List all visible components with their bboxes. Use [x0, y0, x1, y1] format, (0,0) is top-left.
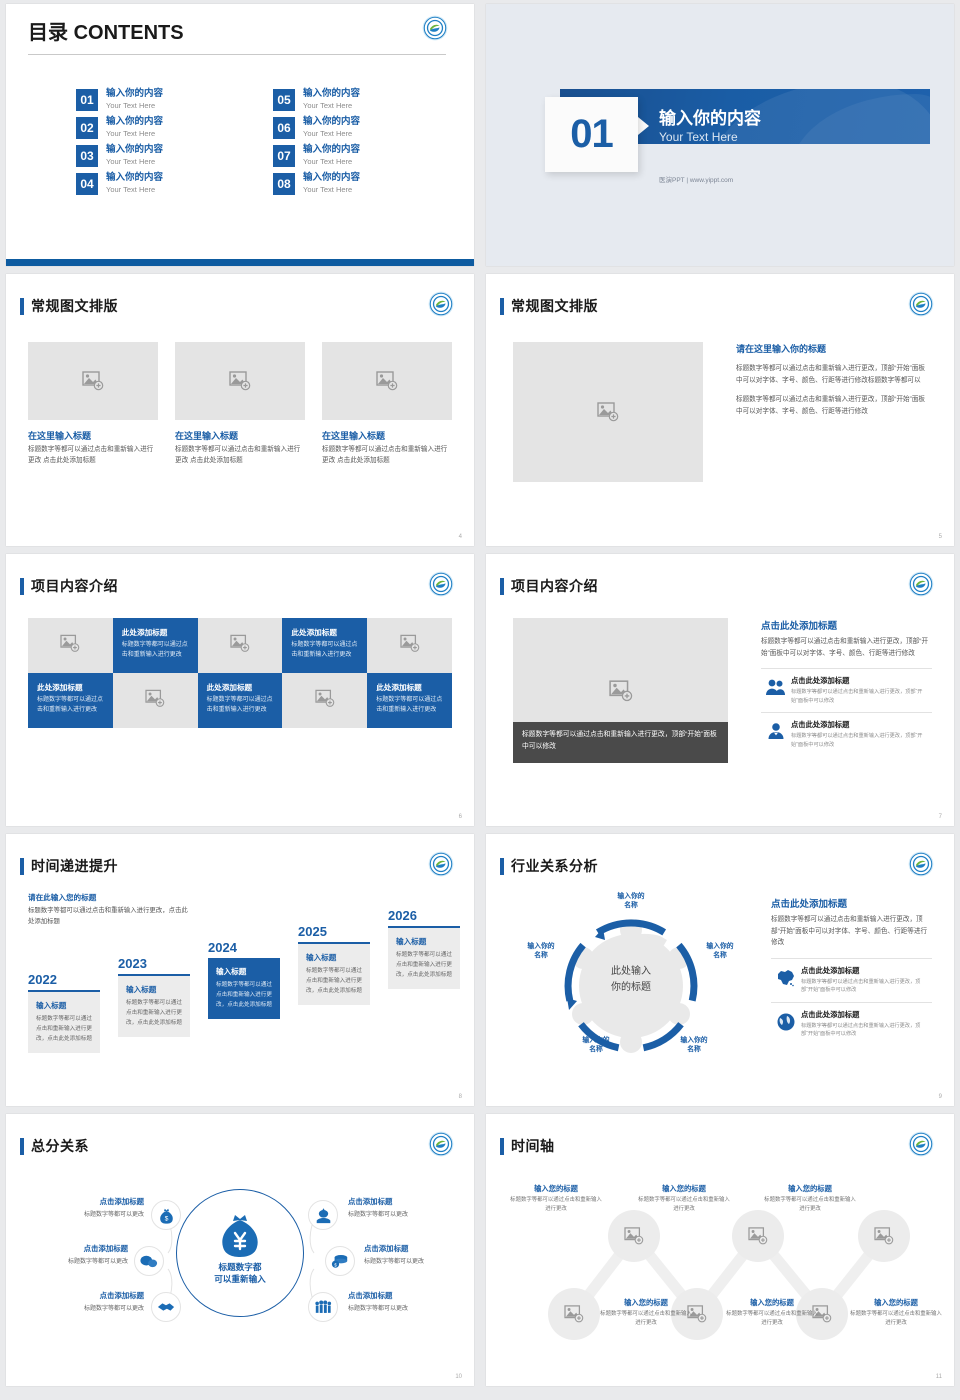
- section-number-box: 01: [545, 97, 638, 172]
- list-item[interactable]: 02 输入你的内容 Your Text Here: [76, 117, 239, 139]
- label-body: 标题数字等都可以通过点击和重新输入进行更改: [636, 1196, 732, 1213]
- page-number: 11: [936, 1374, 942, 1380]
- section-title-en: Your Text Here: [659, 130, 738, 144]
- page-number: 6: [459, 814, 462, 820]
- slide-header: 行业关系分析: [500, 856, 598, 876]
- node-label-line2: 名称: [664, 1045, 724, 1054]
- page-title-cn: 目录: [28, 22, 68, 44]
- page-title: 时间递进提升: [31, 856, 118, 876]
- step-year: 2026: [388, 908, 460, 923]
- slide-header: 时间递进提升: [20, 856, 118, 876]
- list-item[interactable]: 07 输入你的内容 Your Text Here: [273, 145, 436, 167]
- slide-layout-circular-relations[interactable]: 行业关系分析: [486, 834, 954, 1106]
- spoke-label[interactable]: 点击添加标题 标题数字等都可以更改: [364, 1243, 474, 1265]
- grid-cell-image[interactable]: [28, 618, 113, 673]
- money-bag-dollar-icon[interactable]: $: [151, 1200, 181, 1230]
- list-item[interactable]: 点击此处添加标题 标题数字等都可以通过点击和重新输入进行更改，顶部“开始”面板中…: [761, 712, 932, 756]
- brand-logo-icon: [428, 571, 454, 597]
- list-item[interactable]: 03 输入你的内容 Your Text Here: [76, 145, 239, 167]
- add-image-icon: [597, 402, 619, 422]
- add-image-icon: [230, 634, 250, 657]
- step-box: 输入标题 标题数字等都可以通过点击和重新输入进行更改，点击此处添加标题: [28, 990, 100, 1053]
- grid-cell-image[interactable]: [113, 673, 198, 728]
- slide-header: 项目内容介绍: [20, 576, 118, 596]
- text-column: 请在这里输入你的标题 标题数字等都可以通过点击和重新输入进行更改，顶部“开始”面…: [736, 342, 930, 417]
- coins-icon[interactable]: $: [325, 1246, 355, 1276]
- brand-logo-icon: [422, 15, 448, 41]
- spoke-heading: 点击添加标题: [34, 1290, 144, 1301]
- page-number: 9: [939, 1094, 942, 1100]
- cell-heading: 此处添加标题: [122, 627, 190, 638]
- step-heading: 输入标题: [306, 952, 363, 963]
- spoke-label[interactable]: 点击添加标题 标题数字等都可以更改: [34, 1196, 144, 1218]
- spoke-label[interactable]: 点击添加标题 标题数字等都可以更改: [18, 1243, 128, 1265]
- slide-header: 时间轴: [500, 1136, 555, 1156]
- item-label-cn: 输入你的内容: [303, 145, 360, 156]
- slide-cell-8: 时间递进提升 请在此输入您的标题 标题数字等都可以通过点击和重新输入进行更改，点…: [0, 830, 480, 1110]
- title-accent-bar: [20, 1138, 24, 1155]
- china-map-icon: [771, 966, 801, 988]
- section-heading: 请在这里输入你的标题: [736, 342, 930, 355]
- brand-logo-icon: [908, 571, 934, 597]
- slide-layout-checker-grid[interactable]: 项目内容介绍 此处添加标题 标题数字等都可以通过点击和重新输入进行更改 此处添加…: [6, 554, 474, 826]
- step-body: 标题数字等都可以通过点击和重新输入进行更改，点击此处添加标题: [306, 967, 363, 996]
- hub-diagram: 标题数字都 可以重新输入 $ $: [6, 1169, 474, 1354]
- title-accent-bar: [500, 1138, 504, 1155]
- title-accent-bar: [20, 858, 24, 875]
- user-icon: [761, 720, 791, 740]
- contents-list: 01 输入你的内容 Your Text Here 05 输入你的内容 Your …: [76, 89, 436, 195]
- timeline-label[interactable]: 输入您的标题 标题数字等都可以通过点击和重新输入进行更改: [724, 1298, 820, 1327]
- list-item-heading: 点击此处添加标题: [791, 676, 932, 686]
- label-heading: 输入您的标题: [724, 1298, 820, 1308]
- page-number: 7: [939, 814, 942, 820]
- list-item-body: 标题数字等都可以通过点击和重新输入进行更改，顶部“开始”面板中可以修改: [791, 732, 932, 749]
- content-grid: 此处添加标题 标题数字等都可以通过点击和重新输入进行更改 此处添加标题 标题数字…: [28, 618, 452, 728]
- item-number: 06: [273, 117, 295, 139]
- node-label-line1: 输入你的: [511, 942, 571, 951]
- node-label[interactable]: 输入你的 名称: [566, 1036, 626, 1054]
- label-body: 标题数字等都可以通过点击和重新输入进行更改: [724, 1310, 820, 1327]
- step-year: 2023: [118, 956, 190, 971]
- brand-logo-icon: [908, 851, 934, 877]
- list-item[interactable]: 点击此处添加标题 标题数字等都可以通过点击和重新输入进行更改，顶部“开始”面板中…: [771, 958, 932, 1002]
- cell-body: 标题数字等都可以通过点击和重新输入进行更改: [207, 696, 275, 715]
- step-heading: 输入标题: [126, 984, 183, 995]
- step-year: 2025: [298, 924, 370, 939]
- section-number: 01: [570, 112, 613, 157]
- step-heading: 输入标题: [216, 966, 273, 977]
- timeline-label[interactable]: 输入您的标题 标题数字等都可以通过点击和重新输入进行更改: [508, 1184, 604, 1213]
- label-body: 标题数字等都可以通过点击和重新输入进行更改: [508, 1196, 604, 1213]
- slide-section-divider[interactable]: 输入你的内容 Your Text Here 01 医演PPT | www.yip…: [486, 4, 954, 266]
- step-heading: 输入标题: [396, 936, 453, 947]
- node-label-line1: 输入你的: [566, 1036, 626, 1045]
- paragraph-1: 标题数字等都可以通过点击和重新输入进行更改，顶部“开始”面板中可以对字体、字号、…: [736, 363, 930, 386]
- brand-logo-icon: [428, 1131, 454, 1157]
- text-column: 点击此处添加标题 标题数字等都可以通过点击和重新输入进行更改，顶部“开始”面板中…: [771, 896, 932, 1046]
- page-title: 时间轴: [511, 1136, 555, 1156]
- list-item-heading: 点击此处添加标题: [801, 966, 932, 976]
- step-box: 输入标题 标题数字等都可以通过点击和重新输入进行更改，点击此处添加标题: [298, 942, 370, 1005]
- node-label[interactable]: 输入你的 名称: [664, 1036, 724, 1054]
- slide-cell-5: 常规图文排版 请在这里输入你的标题 标题数字等都可以通过点击和重新输入进行更改，…: [480, 270, 960, 550]
- step-year: 2024: [208, 940, 280, 955]
- timeline-label[interactable]: 输入您的标题 标题数字等都可以通过点击和重新输入进行更改: [636, 1184, 732, 1213]
- cell-body: 标题数字等都可以通过点击和重新输入进行更改: [37, 696, 105, 715]
- step-body: 标题数字等都可以通过点击和重新输入进行更改，点击此处添加标题: [36, 1015, 93, 1044]
- list-item[interactable]: 08 输入你的内容 Your Text Here: [273, 173, 436, 195]
- center-line-1: 此处输入: [576, 964, 686, 980]
- page-title: 行业关系分析: [511, 856, 598, 876]
- spoke-label[interactable]: 点击添加标题 标题数字等都可以更改: [348, 1290, 458, 1312]
- step-box: 输入标题 标题数字等都可以通过点击和重新输入进行更改，点击此处添加标题: [208, 958, 280, 1019]
- spoke-body: 标题数字等都可以更改: [364, 1256, 474, 1265]
- image-placeholder[interactable]: [608, 1210, 660, 1262]
- spoke-heading: 点击添加标题: [348, 1196, 458, 1207]
- page-title: 项目内容介绍: [31, 576, 118, 596]
- node-label-line1: 输入你的: [690, 942, 750, 951]
- feature-list: 点击此处添加标题 标题数字等都可以通过点击和重新输入进行更改，顶部“开始”面板中…: [761, 668, 932, 756]
- item-label-en: Your Text Here: [106, 129, 163, 138]
- brand-logo-icon: [908, 291, 934, 317]
- item-label-cn: 输入你的内容: [106, 145, 163, 156]
- item-label-en: Your Text Here: [303, 185, 360, 194]
- slide-header: 常规图文排版: [20, 296, 118, 316]
- paragraph: 标题数字等都可以通过点击和重新输入进行更改，顶部“开始”面板中可以对字体、字号、…: [771, 914, 932, 949]
- timeline-step[interactable]: 2024 输入标题 标题数字等都可以通过点击和重新输入进行更改，点击此处添加标题: [208, 940, 280, 1019]
- center-line-1: 标题数字都: [176, 1261, 304, 1273]
- list-item-heading: 点击此处添加标题: [801, 1010, 932, 1020]
- list-item-body: 标题数字等都可以通过点击和重新输入进行更改，顶部“开始”面板中可以修改: [801, 978, 932, 995]
- cell-heading: 此处添加标题: [37, 682, 105, 693]
- chat-bubbles-icon[interactable]: [134, 1246, 164, 1276]
- add-image-icon: [60, 634, 80, 657]
- add-image-icon: [609, 680, 633, 702]
- spoke-label[interactable]: 点击添加标题 标题数字等都可以更改: [348, 1196, 458, 1218]
- node-label[interactable]: 输入你的 名称: [511, 942, 571, 960]
- item-label-en: Your Text Here: [303, 157, 360, 166]
- feature-list: 点击此处添加标题 标题数字等都可以通过点击和重新输入进行更改，顶部“开始”面板中…: [771, 958, 932, 1046]
- image-card[interactable]: 在这里输入标题 标题数字等都可以通过点击和重新输入进行更改 点击此处添加标题: [322, 342, 452, 467]
- grid-cell-image[interactable]: [198, 618, 283, 673]
- item-label-en: Your Text Here: [106, 157, 163, 166]
- title-accent-bar: [20, 578, 24, 595]
- item-label-cn: 输入你的内容: [106, 89, 163, 100]
- intro-body: 标题数字等都可以通过点击和重新输入进行更改，点击此处添加标题: [28, 906, 188, 928]
- list-item[interactable]: 04 输入你的内容 Your Text Here: [76, 173, 239, 195]
- grid-cell-image[interactable]: [282, 673, 367, 728]
- item-number: 07: [273, 145, 295, 167]
- step-body: 标题数字等都可以通过点击和重新输入进行更改，点击此处添加标题: [126, 999, 183, 1028]
- step-box: 输入标题 标题数字等都可以通过点击和重新输入进行更改，点击此处添加标题: [388, 926, 460, 989]
- page-title: 常规图文排版: [31, 296, 118, 316]
- timeline-label[interactable]: 输入您的标题 标题数字等都可以通过点击和重新输入进行更改: [598, 1298, 694, 1327]
- intro-heading: 请在此输入您的标题: [28, 892, 188, 903]
- step-body: 标题数字等都可以通过点击和重新输入进行更改，点击此处添加标题: [396, 951, 453, 980]
- slide-cell-4: 常规图文排版 在这里输入标题 标题数字等都可以通过点击和重新输入进行更改 点击此…: [0, 270, 480, 550]
- node-label-line2: 名称: [511, 951, 571, 960]
- page-title: 总分关系: [31, 1136, 89, 1156]
- grid-cell-image[interactable]: [367, 618, 452, 673]
- slide-layout-timeline-steps[interactable]: 时间递进提升 请在此输入您的标题 标题数字等都可以通过点击和重新输入进行更改，点…: [6, 834, 474, 1106]
- spoke-heading: 点击添加标题: [364, 1243, 474, 1254]
- image-placeholder[interactable]: [732, 1210, 784, 1262]
- arrow-icon: [638, 117, 649, 135]
- item-number: 08: [273, 173, 295, 195]
- item-label-cn: 输入你的内容: [106, 173, 163, 184]
- label-heading: 输入您的标题: [508, 1184, 604, 1194]
- node-label-line2: 名称: [601, 901, 661, 910]
- slide-cell-contents: 目录 CONTENTS 01 输入你的内容 Your Text Here: [0, 0, 480, 270]
- image-placeholder[interactable]: [513, 342, 703, 482]
- cell-body: 标题数字等都可以通过点击和重新输入进行更改: [291, 641, 359, 660]
- grid-cell-text[interactable]: 此处添加标题 标题数字等都可以通过点击和重新输入进行更改: [367, 673, 452, 728]
- grid-cell-text[interactable]: 此处添加标题 标题数字等都可以通过点击和重新输入进行更改: [282, 618, 367, 673]
- grid-cell-text[interactable]: 此处添加标题 标题数字等都可以通过点击和重新输入进行更改: [198, 673, 283, 728]
- image-placeholder[interactable]: [858, 1210, 910, 1262]
- image-card[interactable]: 在这里输入标题 标题数字等都可以通过点击和重新输入进行更改 点击此处添加标题: [28, 342, 158, 467]
- slide-layout-three-images[interactable]: 常规图文排版 在这里输入标题 标题数字等都可以通过点击和重新输入进行更改 点击此…: [6, 274, 474, 546]
- cell-heading: 此处添加标题: [291, 627, 359, 638]
- title-accent-bar: [500, 858, 504, 875]
- slide-cell-6: 项目内容介绍 此处添加标题 标题数字等都可以通过点击和重新输入进行更改 此处添加…: [0, 550, 480, 830]
- slide-contents[interactable]: 目录 CONTENTS 01 输入你的内容 Your Text Here: [6, 4, 474, 266]
- node-label[interactable]: 输入你的 名称: [690, 942, 750, 960]
- add-image-icon: [400, 634, 420, 657]
- label-body: 标题数字等都可以通过点击和重新输入进行更改: [848, 1310, 944, 1327]
- slide-layout-image-text[interactable]: 常规图文排版 请在这里输入你的标题 标题数字等都可以通过点击和重新输入进行更改，…: [486, 274, 954, 546]
- timeline-step[interactable]: 2026 输入标题 标题数字等都可以通过点击和重新输入进行更改，点击此处添加标题: [388, 908, 460, 989]
- timeline-label[interactable]: 输入您的标题 标题数字等都可以通过点击和重新输入进行更改: [762, 1184, 858, 1213]
- spoke-label[interactable]: 点击添加标题 标题数字等都可以更改: [34, 1290, 144, 1312]
- title-divider: [28, 54, 446, 55]
- add-image-icon: [315, 689, 335, 712]
- item-number: 02: [76, 117, 98, 139]
- list-item[interactable]: 点击此处添加标题 标题数字等都可以通过点击和重新输入进行更改，顶部“开始”面板中…: [771, 1002, 932, 1046]
- money-bag-yen-icon: [215, 1211, 265, 1264]
- image-placeholder[interactable]: [175, 342, 305, 420]
- intro-block: 请在此输入您的标题 标题数字等都可以通过点击和重新输入进行更改，点击此处添加标题: [28, 892, 188, 928]
- label-body: 标题数字等都可以通过点击和重新输入进行更改: [598, 1310, 694, 1327]
- page-number: 8: [459, 1094, 462, 1100]
- hand-money-icon[interactable]: [308, 1200, 338, 1230]
- list-item[interactable]: 06 输入你的内容 Your Text Here: [273, 117, 436, 139]
- grid-cell-text[interactable]: 此处添加标题 标题数字等都可以通过点击和重新输入进行更改: [28, 673, 113, 728]
- image-placeholder[interactable]: [548, 1288, 600, 1340]
- slide-layout-zigzag-timeline[interactable]: 时间轴: [486, 1114, 954, 1386]
- timeline-step[interactable]: 2022 输入标题 标题数字等都可以通过点击和重新输入进行更改，点击此处添加标题: [28, 972, 100, 1053]
- page-title-en: CONTENTS: [74, 22, 184, 44]
- slide-cell-10: 总分关系: [0, 1110, 480, 1390]
- node-label-line1: 输入你的: [664, 1036, 724, 1045]
- center-line-2: 可以重新输入: [176, 1273, 304, 1285]
- brand-logo-icon: [428, 851, 454, 877]
- timeline-step[interactable]: 2023 输入标题 标题数字等都可以通过点击和重新输入进行更改，点击此处添加标题: [118, 956, 190, 1037]
- item-number: 04: [76, 173, 98, 195]
- label-heading: 输入您的标题: [598, 1298, 694, 1308]
- slide-layout-hub-and-spokes[interactable]: 总分关系: [6, 1114, 474, 1386]
- slide-deck-grid: 目录 CONTENTS 01 输入你的内容 Your Text Here: [0, 0, 960, 1400]
- spoke-heading: 点击添加标题: [348, 1290, 458, 1301]
- node-label-line2: 名称: [690, 951, 750, 960]
- item-number: 03: [76, 145, 98, 167]
- spoke-body: 标题数字等都可以更改: [34, 1209, 144, 1218]
- image-card[interactable]: 在这里输入标题 标题数字等都可以通过点击和重新输入进行更改 点击此处添加标题: [175, 342, 305, 467]
- footer-bar: [6, 259, 474, 266]
- spoke-body: 标题数字等都可以更改: [34, 1303, 144, 1312]
- title-accent-bar: [500, 298, 504, 315]
- label-heading: 输入您的标题: [636, 1184, 732, 1194]
- list-item[interactable]: 点击此处添加标题 标题数字等都可以通过点击和重新输入进行更改，顶部“开始”面板中…: [761, 668, 932, 712]
- cell-body: 标题数字等都可以通过点击和重新输入进行更改: [122, 641, 190, 660]
- center-label: 此处输入 你的标题: [576, 964, 686, 995]
- add-image-icon: [145, 689, 165, 712]
- slide-header: 常规图文排版: [500, 296, 598, 316]
- item-label-cn: 输入你的内容: [303, 89, 360, 100]
- page-number: 4: [459, 534, 462, 540]
- spoke-body: 标题数字等都可以更改: [18, 1256, 128, 1265]
- paragraph: 标题数字等都可以通过点击和重新输入进行更改，顶部“开始”面板中可以对字体、字号、…: [761, 636, 932, 659]
- slide-cell-7: 项目内容介绍 标题数字等都可以通过点击和重新输入进行更改，顶部“开始”面板中可以…: [480, 550, 960, 830]
- paragraph-2: 标题数字等都可以通过点击和重新输入进行更改，顶部“开始”面板中可以对字体、字号、…: [736, 394, 930, 417]
- item-label-en: Your Text Here: [303, 129, 360, 138]
- page-number: 10: [455, 1374, 462, 1380]
- spoke-heading: 点击添加标题: [18, 1243, 128, 1254]
- step-body: 标题数字等都可以通过点击和重新输入进行更改，点击此处添加标题: [216, 981, 273, 1010]
- item-label-cn: 输入你的内容: [303, 173, 360, 184]
- card-body: 标题数字等都可以通过点击和重新输入进行更改 点击此处添加标题: [322, 445, 452, 467]
- page-title: 目录 CONTENTS: [28, 16, 184, 45]
- svg-text:$: $: [164, 1215, 168, 1222]
- card-body: 标题数字等都可以通过点击和重新输入进行更改 点击此处添加标题: [175, 445, 305, 467]
- label-body: 标题数字等都可以通过点击和重新输入进行更改: [762, 1196, 858, 1213]
- item-label-cn: 输入你的内容: [106, 117, 163, 128]
- card-heading: 在这里输入标题: [28, 429, 158, 442]
- circular-diagram: 此处输入 你的标题 输入你的 名称 输入你的 名称 输入你的 名称 输入你的 名…: [504, 884, 754, 1079]
- list-item-heading: 点击此处添加标题: [791, 720, 932, 730]
- brand-logo-icon: [908, 1131, 934, 1157]
- section-heading: 点击此处添加标题: [771, 896, 932, 910]
- title-accent-bar: [20, 298, 24, 315]
- card-heading: 在这里输入标题: [322, 429, 452, 442]
- section-title-cn: 输入你的内容: [659, 104, 761, 129]
- slide-cell-9: 行业关系分析: [480, 830, 960, 1110]
- list-item[interactable]: 01 输入你的内容 Your Text Here: [76, 89, 239, 111]
- slide-header: 总分关系: [20, 1136, 89, 1156]
- node-label-line2: 名称: [566, 1045, 626, 1054]
- label-heading: 输入您的标题: [848, 1298, 944, 1308]
- spoke-heading: 点击添加标题: [34, 1196, 144, 1207]
- users-icon: [761, 676, 791, 696]
- page-title: 项目内容介绍: [511, 576, 598, 596]
- page-number: 5: [939, 534, 942, 540]
- image-placeholder[interactable]: [28, 342, 158, 420]
- list-item-body: 标题数字等都可以通过点击和重新输入进行更改，顶部“开始”面板中可以修改: [791, 688, 932, 705]
- text-column: 点击此处添加标题 标题数字等都可以通过点击和重新输入进行更改，顶部“开始”面板中…: [761, 618, 932, 756]
- item-number: 05: [273, 89, 295, 111]
- item-label-en: Your Text Here: [106, 101, 163, 110]
- timeline-label[interactable]: 输入您的标题 标题数字等都可以通过点击和重新输入进行更改: [848, 1298, 944, 1327]
- spoke-body: 标题数字等都可以更改: [348, 1209, 458, 1218]
- list-item[interactable]: 05 输入你的内容 Your Text Here: [273, 89, 436, 111]
- center-line-2: 你的标题: [576, 980, 686, 996]
- item-label-en: Your Text Here: [106, 185, 163, 194]
- zigzag-diagram: 输入您的标题 标题数字等都可以通过点击和重新输入进行更改 输入您的标题 标题数字…: [486, 1166, 954, 1356]
- step-list: 2022 输入标题 标题数字等都可以通过点击和重新输入进行更改，点击此处添加标题…: [28, 934, 452, 1084]
- slide-layout-image-caption-list[interactable]: 项目内容介绍 标题数字等都可以通过点击和重新输入进行更改，顶部“开始”面板中可以…: [486, 554, 954, 826]
- credit-text: 医演PPT | www.yippt.com: [659, 174, 733, 184]
- image-placeholder[interactable]: [322, 342, 452, 420]
- list-item-body: 标题数字等都可以通过点击和重新输入进行更改，顶部“开始”面板中可以修改: [801, 1022, 932, 1039]
- slide-cell-divider: 输入你的内容 Your Text Here 01 医演PPT | www.yip…: [480, 0, 960, 270]
- slide-cell-11: 时间轴: [480, 1110, 960, 1390]
- item-label-cn: 输入你的内容: [303, 117, 360, 128]
- page-title: 常规图文排版: [511, 296, 598, 316]
- grid-cell-text[interactable]: 此处添加标题 标题数字等都可以通过点击和重新输入进行更改: [113, 618, 198, 673]
- item-label-en: Your Text Here: [303, 101, 360, 110]
- node-label-line1: 输入你的: [601, 892, 661, 901]
- section-heading: 点击此处添加标题: [761, 618, 932, 632]
- add-image-icon: [376, 371, 398, 391]
- center-label: 标题数字都 可以重新输入: [176, 1261, 304, 1286]
- node-label[interactable]: 输入你的 名称: [601, 892, 661, 910]
- timeline-step[interactable]: 2025 输入标题 标题数字等都可以通过点击和重新输入进行更改，点击此处添加标题: [298, 924, 370, 1005]
- people-group-icon[interactable]: [308, 1292, 338, 1322]
- add-image-icon: [82, 371, 104, 391]
- title-accent-bar: [500, 578, 504, 595]
- cell-heading: 此处添加标题: [207, 682, 275, 693]
- step-heading: 输入标题: [36, 1000, 93, 1011]
- globe-icon: [771, 1010, 801, 1032]
- spoke-body: 标题数字等都可以更改: [348, 1303, 458, 1312]
- card-heading: 在这里输入标题: [175, 429, 305, 442]
- handshake-icon[interactable]: [151, 1292, 181, 1322]
- image-card-list: 在这里输入标题 标题数字等都可以通过点击和重新输入进行更改 点击此处添加标题 在…: [28, 342, 452, 467]
- item-number: 01: [76, 89, 98, 111]
- slide-header: 项目内容介绍: [500, 576, 598, 596]
- step-year: 2022: [28, 972, 100, 987]
- brand-logo-icon: [428, 291, 454, 317]
- cell-heading: 此处添加标题: [376, 682, 444, 693]
- cell-body: 标题数字等都可以通过点击和重新输入进行更改: [376, 696, 444, 715]
- label-heading: 输入您的标题: [762, 1184, 858, 1194]
- image-caption: 标题数字等都可以通过点击和重新输入进行更改，顶部“开始”面板中可以修改: [513, 722, 728, 763]
- add-image-icon: [229, 371, 251, 391]
- card-body: 标题数字等都可以通过点击和重新输入进行更改 点击此处添加标题: [28, 445, 158, 467]
- step-box: 输入标题 标题数字等都可以通过点击和重新输入进行更改，点击此处添加标题: [118, 974, 190, 1037]
